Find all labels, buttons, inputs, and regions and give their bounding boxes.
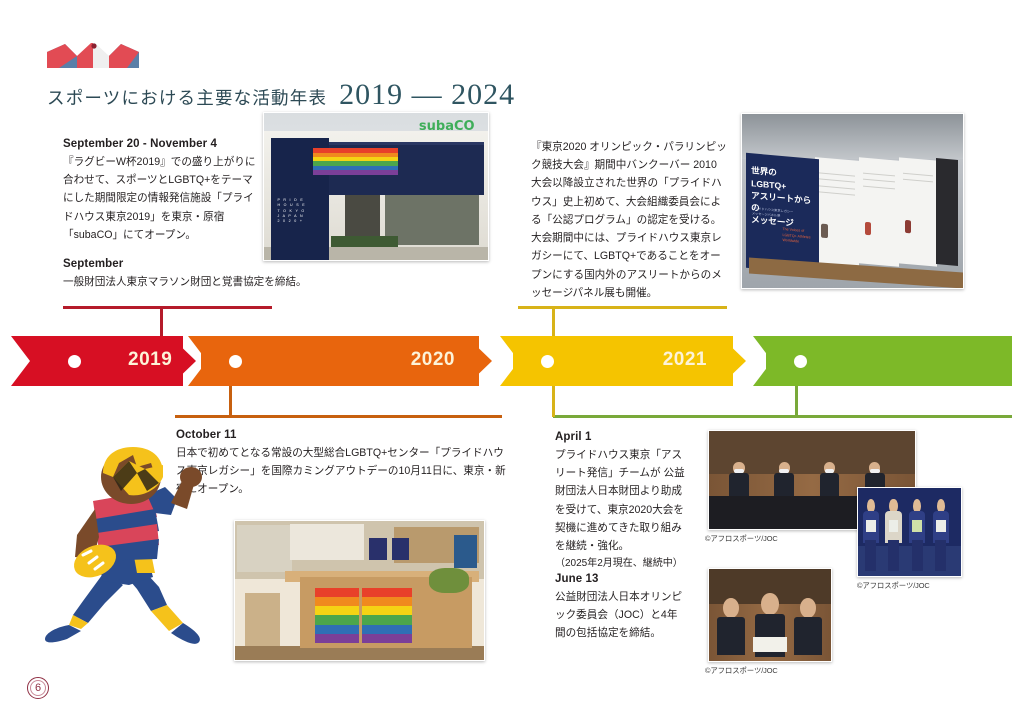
entry-body: 一般財団法人東京マラソン財団と覚書協定を締結。 <box>63 273 323 291</box>
panel-accent-text: The Voices of LGBTQ+ Athletes Worldwide <box>783 227 815 246</box>
entry-heading: September <box>63 258 323 270</box>
entry-heading: June 13 <box>555 573 687 585</box>
timeline-year-2021: 2021 <box>663 349 707 371</box>
lgbtq-athlete-message-panel-exhibition-photo: 世界の LGBTQ+ アスリートからの メッセージ プライドハウス東京レガシー … <box>741 113 964 289</box>
entry-2019-sep-nov: September 20 - November 4 『ラグビーW杯2019』での… <box>63 138 259 244</box>
timeline-segment-2019[interactable]: 2019 <box>35 336 195 386</box>
joc-agreement-signing-photo <box>708 568 832 662</box>
pride-house-tokyo-logo <box>47 42 139 72</box>
page-title: スポーツにおける主要な活動年表 2019 — 2024 <box>47 78 515 112</box>
entry-2021-apr: April 1 プライドハウス東京「アスリート発信」チームが 公益財団法人日本財… <box>555 431 685 572</box>
entry-2020-tokyo2020: 『東京2020 オリンピック・パラリンピック競技大会』期間中バンクーバー 201… <box>531 138 727 302</box>
timeline-segment-2021[interactable]: 2021 <box>513 336 745 386</box>
connector-stem-2020-bottom <box>229 386 232 417</box>
pride-house-tokyo-legacy-interior-photo <box>234 520 485 661</box>
entry-2019-sep: September 一般財団法人東京マラソン財団と覚書協定を締結。 <box>63 258 323 291</box>
timeline-dot-green <box>794 355 807 368</box>
timeline-dot-2021 <box>541 355 554 368</box>
timeline-segment-green[interactable] <box>766 336 1012 386</box>
connector-stem-green-bottom <box>795 386 798 417</box>
page-title-jp: スポーツにおける主要な活動年表 <box>47 85 327 110</box>
shop-sign: subaCO <box>419 119 475 134</box>
connector-stem-2021-top <box>552 306 555 338</box>
connector-stem-2021-bottom <box>552 386 555 417</box>
entry-body: プライドハウス東京「アスリート発信」チームが 公益財団法人日本財団より助成を受け… <box>555 446 685 555</box>
group-photo-with-certificates <box>857 487 962 577</box>
rainbow-house-logo <box>313 148 398 174</box>
page-number-badge: 6 <box>27 677 49 699</box>
rugby-player-illustration <box>33 443 228 648</box>
entry-2021-jun: June 13 公益財団法人日本オリンピック委員会（JOC）と4年間の包括協定を… <box>555 573 687 643</box>
subaco-storefront-photo: P R I D EH O U S ET O K Y OJ A P A N2 0 … <box>263 112 489 261</box>
rainbow-flag-right <box>362 588 412 644</box>
page-canvas: スポーツにおける主要な活動年表 2019 — 2024 P R I D EH O… <box>0 0 1012 724</box>
connector-rule-2019 <box>63 306 272 309</box>
photo-caption-joc-signing: ©アフロスポーツ/JOC <box>705 665 778 676</box>
photo-caption-press-conference: ©アフロスポーツ/JOC <box>705 533 778 544</box>
rainbow-flag-left <box>315 588 360 644</box>
entry-body: 『東京2020 オリンピック・パラリンピック競技大会』期間中バンクーバー 201… <box>531 138 727 302</box>
panel-title: 世界の LGBTQ+ アスリートからの メッセージ <box>752 164 816 231</box>
connector-rule-2021-top <box>518 306 727 309</box>
connector-stem-2019 <box>160 306 163 338</box>
page-number-ring <box>30 680 46 696</box>
timeline-year-2020: 2020 <box>411 349 455 371</box>
entry-heading: October 11 <box>176 429 506 441</box>
banner-text: P R I D EH O U S ET O K Y OJ A P A N2 0 … <box>277 198 331 224</box>
entry-heading: September 20 - November 4 <box>63 138 259 150</box>
timeline-band: 2019 2020 2021 <box>0 336 1012 386</box>
timeline-dot-2019 <box>68 355 81 368</box>
entry-heading: April 1 <box>555 431 685 443</box>
timeline-segment-2020[interactable]: 2020 <box>201 336 491 386</box>
connector-rule-2020-bottom <box>175 415 502 418</box>
entry-body: 『ラグビーW杯2019』での盛り上がりに合わせて、スポーツとLGBTQ+をテーマ… <box>63 153 259 244</box>
timeline-dot-2020 <box>229 355 242 368</box>
entry-note: （2025年2月現在、継続中） <box>555 555 685 572</box>
connector-rule-green-bottom <box>553 415 1012 418</box>
photo-caption-group-award: ©アフロスポーツ/JOC <box>857 580 930 591</box>
page-title-years: 2019 — 2024 <box>339 78 515 112</box>
entry-body: 公益財団法人日本オリンピック委員会（JOC）と4年間の包括協定を締結。 <box>555 588 687 643</box>
timeline-year-2019: 2019 <box>128 349 172 371</box>
